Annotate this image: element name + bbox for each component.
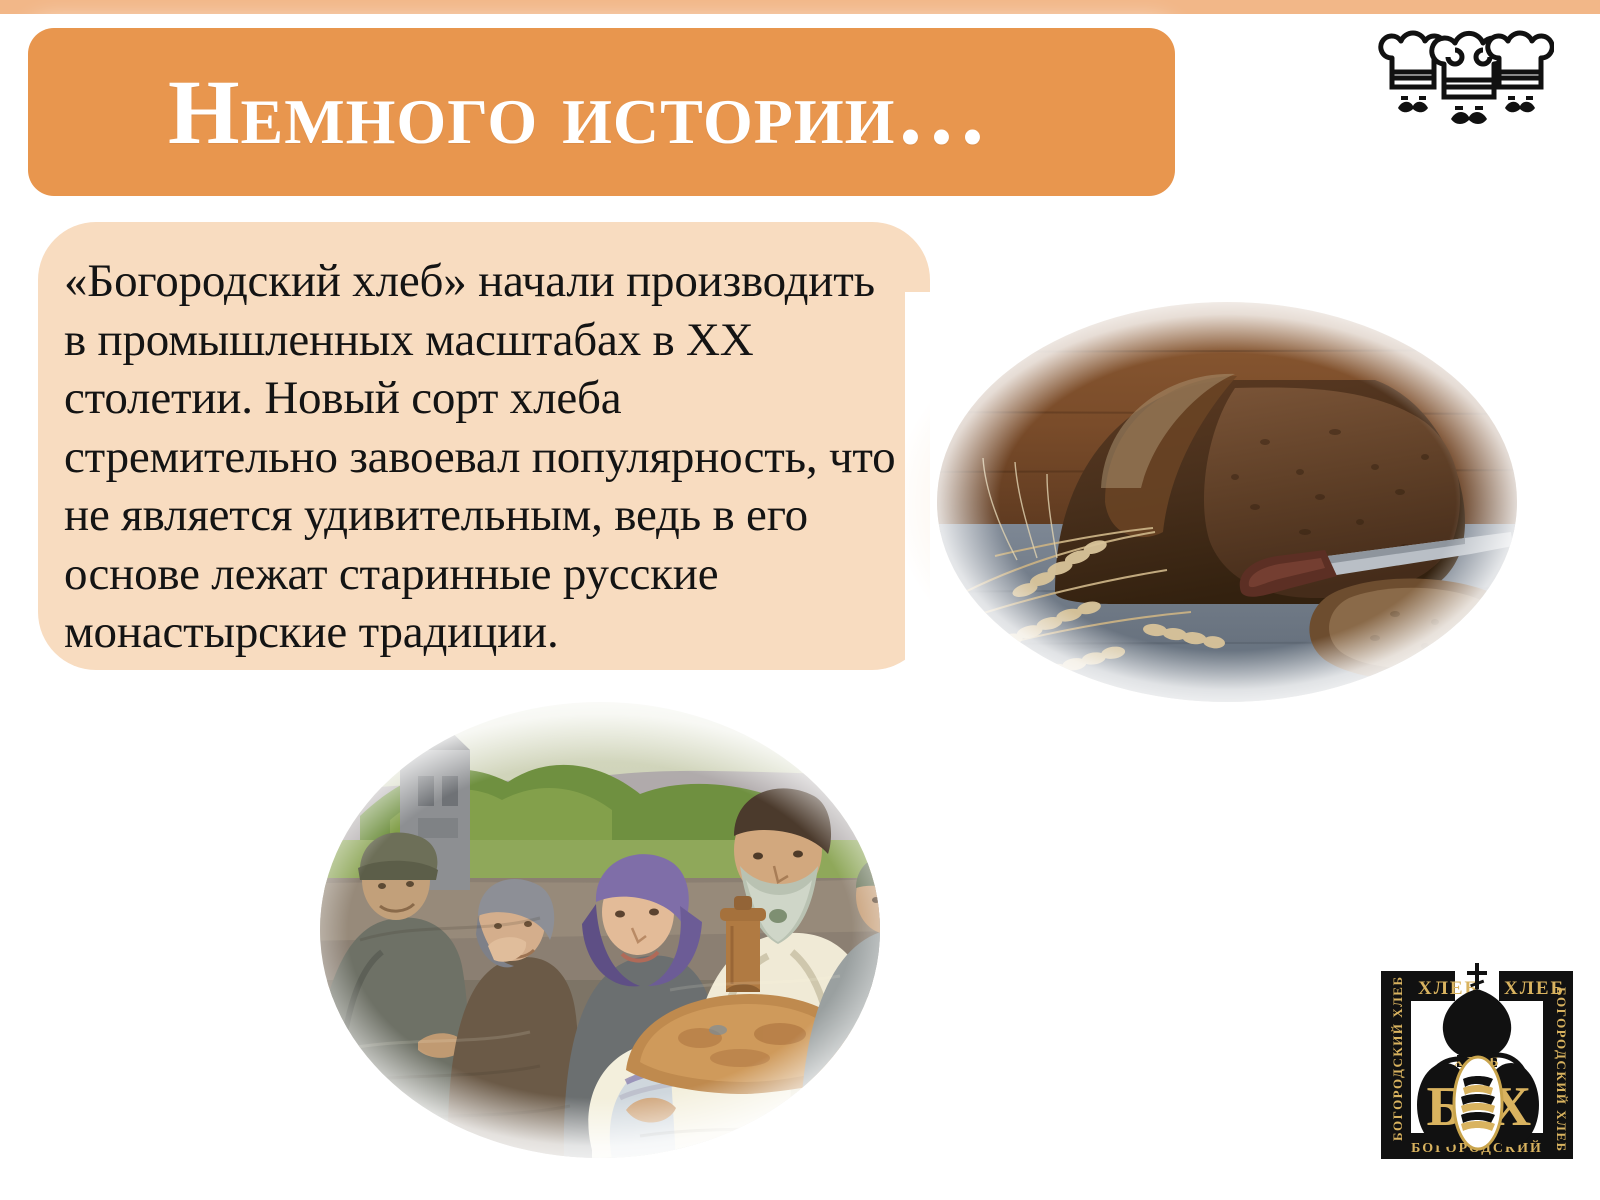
bread-and-salt-painting [240,690,960,1170]
history-paragraph: «Богородский хлеб» начали производить в … [64,252,896,662]
logo-border-left-text: БОГОРОДСКИЙ ХЛЕБ [1390,975,1405,1141]
logo-border-right-text: БОГОРОДСКИЙ ХЛЕБ [1554,987,1569,1153]
page-title: Немного истории… [168,66,988,158]
history-text-card: «Богородский хлеб» начали производить в … [38,222,930,670]
title-banner: Немного истории… [28,28,1175,196]
slide-canvas: Немного истории… [0,0,1600,1200]
bogorodsky-khleb-logo: ХЛЕБ ХЛЕБ БОГОРОДСКИЙ ХЛЕБ БОГОРОДСКИЙ Х… [1371,945,1583,1163]
top-accent-strip [0,0,1600,14]
dark-rye-bread-photo [905,292,1550,712]
three-chefs-icon [1374,24,1554,126]
